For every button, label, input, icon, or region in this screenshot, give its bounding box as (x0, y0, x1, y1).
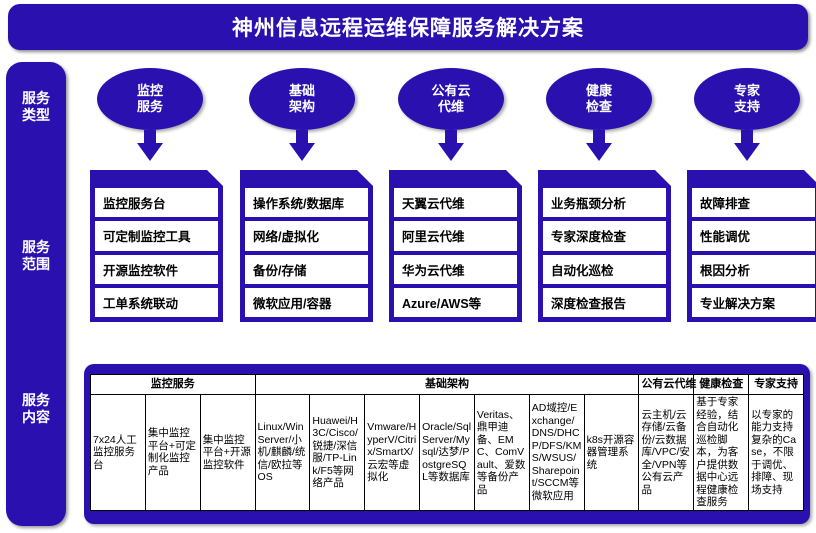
scope-item[interactable]: 备份/存储 (245, 255, 368, 284)
table-row: 7x24人工监控服务台集中监控平台+可定制化监控产品集中监控平台+开源监控软件L… (91, 395, 804, 511)
scope-box-items: 故障排查性能调优根因分析专业解决方案 (692, 188, 815, 317)
scope-item[interactable]: 微软应用/容器 (245, 288, 368, 317)
scope-item[interactable]: 业务瓶颈分析 (543, 188, 666, 217)
scope-box-1: 监控服务台可定制监控工具开源监控软件工单系统联动 (90, 170, 223, 322)
scope-item[interactable]: 工单系统联动 (95, 288, 218, 317)
scope-item[interactable]: 专业解决方案 (692, 288, 815, 317)
scope-item[interactable]: 天翼云代维 (394, 188, 517, 217)
scope-item[interactable]: 故障排查 (692, 188, 815, 217)
scope-item[interactable]: 华为云代维 (394, 255, 517, 284)
scope-box-items: 业务瓶颈分析专家深度检查自动化巡检深度检查报告 (543, 188, 666, 317)
category-ellipse-label: 健康检查 (586, 83, 612, 115)
category-ellipse-label: 公有云代维 (431, 83, 470, 115)
scope-box-items: 操作系统/数据库网络/虚拟化备份/存储微软应用/容器 (245, 188, 368, 317)
scope-item[interactable]: 可定制监控工具 (95, 221, 218, 250)
table-cell: 集中监控平台+开源监控软件 (200, 395, 255, 511)
scope-item[interactable]: 阿里云代维 (394, 221, 517, 250)
service-content-table: 监控服务基础架构公有云代维健康检查专家支持 7x24人工监控服务台集中监控平台+… (90, 374, 804, 511)
table-group-header: 专家支持 (749, 375, 804, 395)
scope-item[interactable]: 根因分析 (692, 255, 815, 284)
scope-item[interactable]: 操作系统/数据库 (245, 188, 368, 217)
table-cell: k8s开源容器管理系统 (584, 395, 639, 511)
diagram-canvas: 神州信息远程运维保障服务解决方案 服务类型 服务范围 服务内容 监控服务基础架构… (0, 0, 816, 533)
scope-item[interactable]: Azure/AWS等 (394, 288, 517, 317)
scope-item[interactable]: 深度检查报告 (543, 288, 666, 317)
table-cell: Oracle/SqlServer/Mysql/达梦/PostgreSQL等数据库 (420, 395, 475, 511)
table-cell: 云主机/云存储/云备份/云数据库/VPC/安全/VPN等公有云产品 (639, 395, 694, 511)
scope-box-2: 操作系统/数据库网络/虚拟化备份/存储微软应用/容器 (240, 170, 373, 322)
table-header-row: 监控服务基础架构公有云代维健康检查专家支持 (91, 375, 804, 395)
arrow-down-icon (438, 130, 464, 170)
table-group-header: 公有云代维 (639, 375, 694, 395)
page-title-banner: 神州信息远程运维保障服务解决方案 (8, 4, 808, 50)
category-ellipse-5[interactable]: 专家支持 (694, 68, 800, 130)
scope-box-5: 故障排查性能调优根因分析专业解决方案 (687, 170, 816, 322)
table-group-header: 监控服务 (91, 375, 256, 395)
service-axis-sidebar: 服务类型 服务范围 服务内容 (6, 62, 66, 526)
category-ellipse-label: 专家支持 (734, 83, 760, 115)
scope-box-4: 业务瓶颈分析专家深度检查自动化巡检深度检查报告 (538, 170, 671, 322)
scope-box-items: 天翼云代维阿里云代维华为云代维Azure/AWS等 (394, 188, 517, 317)
category-ellipse-4[interactable]: 健康检查 (546, 68, 652, 130)
scope-item[interactable]: 性能调优 (692, 221, 815, 250)
scope-item[interactable]: 专家深度检查 (543, 221, 666, 250)
scope-item[interactable]: 开源监控软件 (95, 255, 218, 284)
table-cell: 基于专家经验，结合自动化巡检脚本，为客户提供数据中心远程健康检查服务 (694, 395, 749, 511)
scope-item[interactable]: 网络/虚拟化 (245, 221, 368, 250)
table-cell: 7x24人工监控服务台 (91, 395, 146, 511)
arrow-down-icon (137, 130, 163, 170)
table-cell: Vmware/HyperV/Citrix/SmartX/云宏等虚拟化 (365, 395, 420, 511)
category-ellipse-label: 监控服务 (137, 83, 163, 115)
sidebar-item-service-content: 服务内容 (6, 392, 66, 426)
table-cell: 集中监控平台+可定制化监控产品 (145, 395, 200, 511)
category-ellipse-label: 基础架构 (289, 83, 315, 115)
service-content-panel: 监控服务基础架构公有云代维健康检查专家支持 7x24人工监控服务台集中监控平台+… (84, 364, 810, 524)
table-cell: Linux/WinServer/小机/麒麟/统信/欧拉等OS (255, 395, 310, 511)
table-cell: Veritas、鼎甲迪备、EMC、ComVault、爱数等备份产品 (474, 395, 529, 511)
category-ellipse-1[interactable]: 监控服务 (97, 68, 203, 130)
scope-item[interactable]: 监控服务台 (95, 188, 218, 217)
table-cell: Huawei/H3C/Cisco/锐捷/深信服/TP-Link/F5等网络产品 (310, 395, 365, 511)
scope-box-3: 天翼云代维阿里云代维华为云代维Azure/AWS等 (389, 170, 522, 322)
sidebar-item-service-type: 服务类型 (6, 90, 66, 124)
scope-item[interactable]: 自动化巡检 (543, 255, 666, 284)
category-ellipse-3[interactable]: 公有云代维 (398, 68, 504, 130)
category-ellipse-2[interactable]: 基础架构 (249, 68, 355, 130)
arrow-down-icon (289, 130, 315, 170)
table-cell: 以专家的能力支持复杂的Case，不限于调优、排障、现场支持 (749, 395, 804, 511)
table-cell: AD域控/Exchange/DNS/DHCP/DFS/KMS/WSUS/Shar… (529, 395, 584, 511)
arrow-down-icon (734, 130, 760, 170)
table-group-header: 健康检查 (694, 375, 749, 395)
table-group-header: 基础架构 (255, 375, 639, 395)
sidebar-item-service-scope: 服务范围 (6, 239, 66, 273)
arrow-down-icon (586, 130, 612, 170)
page-title: 神州信息远程运维保障服务解决方案 (232, 12, 584, 42)
scope-box-items: 监控服务台可定制监控工具开源监控软件工单系统联动 (95, 188, 218, 317)
